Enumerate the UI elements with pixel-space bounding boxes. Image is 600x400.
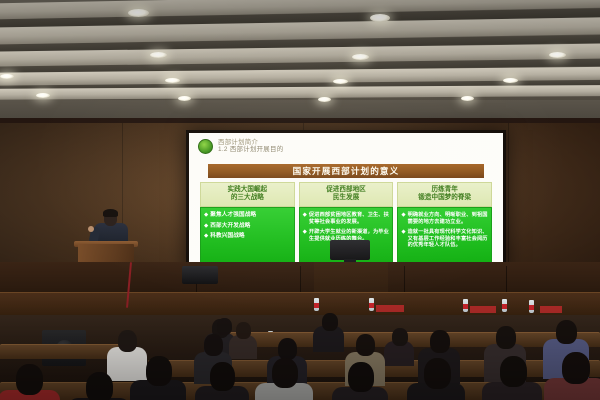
seat-row xyxy=(0,344,120,359)
ceiling-light-icon xyxy=(370,14,390,22)
audience-head xyxy=(278,338,297,360)
slide-column-1: 实践大国崛起 的三大战略 ◆ 聚焦人才强国战略 ◆ 西部大开发战略 xyxy=(200,182,295,264)
col2-bullet-1: 促进西部贫困地区教育、卫生、扶贫等社会事业的发展。 xyxy=(309,212,389,226)
ceiling-light-icon xyxy=(461,96,474,101)
bullet-item: ◆ 科教兴国战略 xyxy=(204,233,291,240)
col2-head-line1: 促进西部地区 xyxy=(302,186,391,194)
audience-head xyxy=(356,334,375,356)
slide-header-line2: 1.2 西部计划开展目的 xyxy=(218,146,283,153)
audience-head xyxy=(500,356,527,387)
audience-head xyxy=(86,372,113,400)
bullet-item: ◆ 造就一批具有现代科学文化知识、又有基层工作经验和丰富社会阅历的优秀年轻人才队… xyxy=(401,229,488,249)
audience-head xyxy=(348,362,374,392)
slide-column-3-body: ◆ 明确就业方向、明晰职业、到祖国需要的地方去建功立业。 ◆ 造就一批具有现代科… xyxy=(397,207,492,264)
audience-head xyxy=(16,364,43,395)
stage-panel-seam xyxy=(404,266,405,294)
water-bottle xyxy=(463,299,468,312)
audience-head xyxy=(204,334,223,356)
slide-column-3: 历练青年 锻造中国梦的脊梁 ◆ 明确就业方向、明晰职业、到祖国需要的地方去建功立… xyxy=(397,182,492,264)
col3-head-line2: 锻造中国梦的脊梁 xyxy=(400,194,489,202)
col2-head-line2: 民生发展 xyxy=(302,194,391,202)
bullet-dot-icon: ◆ xyxy=(401,229,405,249)
ceiling-light-icon xyxy=(318,97,331,102)
water-bottle xyxy=(369,298,374,311)
bullet-dot-icon: ◆ xyxy=(303,212,307,226)
green-emblem-icon xyxy=(198,139,213,154)
ceiling-light-icon xyxy=(165,78,180,83)
audience-head xyxy=(430,330,450,353)
water-bottle xyxy=(529,300,534,313)
col3-bullet-2: 造就一批具有现代科学文化知识、又有基层工作经验和丰富社会阅历的优秀年轻人才队伍。 xyxy=(408,229,488,249)
ceiling-light-icon xyxy=(150,52,167,58)
slide-column-1-body: ◆ 聚焦人才强国战略 ◆ 西部大开发战略 ◆ 科教兴国战略 xyxy=(200,207,295,264)
audience-head xyxy=(272,358,298,388)
stage-panel-seam xyxy=(506,266,507,294)
audience-head xyxy=(424,358,451,389)
col1-bullet-2: 西部大开发战略 xyxy=(210,223,250,230)
bullet-item: ◆ 西部大开发战略 xyxy=(204,223,291,230)
ceiling-light-icon xyxy=(333,79,348,84)
wall-trim xyxy=(0,118,600,123)
bullet-dot-icon: ◆ xyxy=(303,229,307,243)
stage-panel-seam xyxy=(300,266,301,294)
audience-head xyxy=(562,352,590,384)
bullet-dot-icon: ◆ xyxy=(204,212,208,219)
col1-head-line2: 的三大战略 xyxy=(203,194,292,202)
bullet-dot-icon: ◆ xyxy=(204,223,208,230)
audience-head xyxy=(217,318,232,335)
slide-header: 西部计划简介 1.2 西部计划开展目的 xyxy=(198,139,283,154)
ceiling-band xyxy=(0,100,600,120)
audience-head xyxy=(118,330,137,352)
audience-head xyxy=(556,320,577,344)
red-placard xyxy=(470,306,496,313)
audience-head xyxy=(392,328,408,346)
audience-head xyxy=(322,313,338,331)
audience-head xyxy=(236,322,251,339)
red-placard xyxy=(376,305,404,312)
audience-head xyxy=(210,362,235,391)
front-desk-row xyxy=(0,292,600,315)
bullet-item: ◆ 聚焦人才强国战略 xyxy=(204,212,291,219)
ceiling-light-icon xyxy=(178,96,191,101)
col1-head-line1: 实践大国崛起 xyxy=(203,186,292,194)
audience-head xyxy=(146,356,172,386)
presenter-hand xyxy=(88,226,94,232)
col1-bullet-3: 科教兴国战略 xyxy=(210,233,244,240)
col1-bullet-1: 聚焦人才强国战略 xyxy=(210,212,256,219)
col3-bullet-1: 明确就业方向、明晰职业、到祖国需要的地方去建功立业。 xyxy=(408,212,488,226)
lecture-hall-photo: 西部计划简介 1.2 西部计划开展目的 国家开展西部计划的意义 实践大国崛起 的… xyxy=(0,0,600,400)
audience-head xyxy=(496,326,516,349)
slide-column-1-heading: 实践大国崛起 的三大战略 xyxy=(200,182,295,207)
confidence-monitor xyxy=(330,240,370,260)
ceiling-light-icon xyxy=(503,78,518,83)
ceiling-light-icon xyxy=(36,93,50,98)
bullet-item: ◆ 促进西部贫困地区教育、卫生、扶贫等社会事业的发展。 xyxy=(303,212,390,226)
ceiling-light-icon xyxy=(549,52,566,58)
ceiling-light-icon xyxy=(352,54,369,60)
bullet-dot-icon: ◆ xyxy=(204,233,208,240)
slide-column-2-heading: 促进西部地区 民生发展 xyxy=(299,182,394,207)
water-bottle xyxy=(502,299,507,312)
ceiling xyxy=(0,0,600,120)
ceiling-light-icon xyxy=(0,74,14,79)
ceiling-light-icon xyxy=(128,9,149,17)
bullet-dot-icon: ◆ xyxy=(401,212,405,226)
slide-title-bar: 国家开展西部计划的意义 xyxy=(208,164,484,178)
presenter-hair xyxy=(103,209,118,217)
slide-column-3-heading: 历练青年 锻造中国梦的脊梁 xyxy=(397,182,492,207)
stage-monitor xyxy=(182,266,218,284)
slide-title: 国家开展西部计划的意义 xyxy=(293,165,400,177)
audience-body xyxy=(107,347,147,381)
bullet-item: ◆ 明确就业方向、明晰职业、到祖国需要的地方去建功立业。 xyxy=(401,212,488,226)
red-placard xyxy=(540,306,562,313)
water-bottle xyxy=(314,298,319,311)
col3-head-line1: 历练青年 xyxy=(400,186,489,194)
